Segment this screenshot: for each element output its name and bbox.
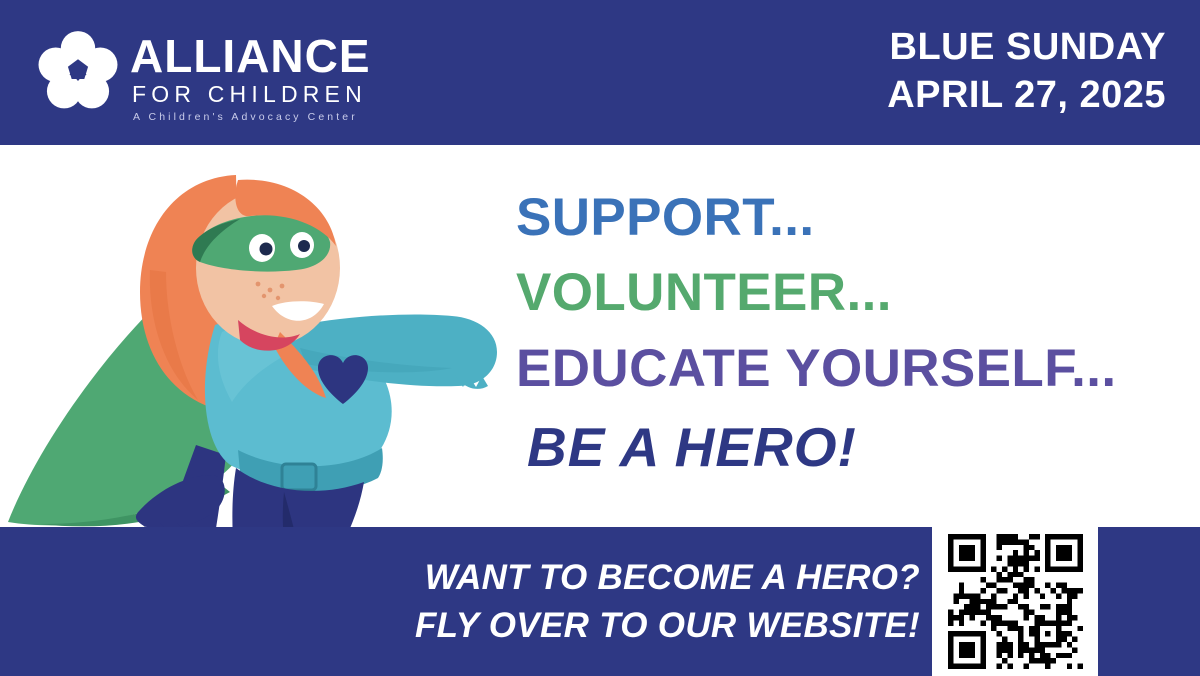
alliance-for-children-logo: ALLIANCE FOR CHILDREN A Children's Advoc… [36, 28, 371, 124]
cta-line-2: FLY OVER TO OUR WEBSITE! [415, 602, 920, 650]
cta-line-1: WANT TO BECOME A HERO? [415, 554, 920, 602]
headline-stack: SUPPORT... VOLUNTEER... EDUCATE YOURSELF… [516, 180, 1176, 483]
headline-support: SUPPORT... [516, 180, 1176, 255]
qr-code-icon[interactable] [948, 534, 1083, 669]
flower-petal-logo-icon [36, 28, 120, 114]
blue-sunday-poster: ALLIANCE FOR CHILDREN A Children's Advoc… [0, 0, 1200, 676]
headline-volunteer: VOLUNTEER... [516, 255, 1176, 330]
headline-be-a-hero: BE A HERO! [527, 412, 1176, 484]
poster-header: ALLIANCE FOR CHILDREN A Children's Advoc… [0, 0, 1200, 145]
banner-right-block [1098, 527, 1200, 676]
logo-name: ALLIANCE [130, 34, 371, 79]
website-cta-banner: WANT TO BECOME A HERO? FLY OVER TO OUR W… [0, 527, 932, 676]
logo-tagline: A Children's Advocacy Center [130, 111, 371, 125]
event-date: APRIL 27, 2025 [887, 72, 1166, 120]
cta-text: WANT TO BECOME A HERO? FLY OVER TO OUR W… [415, 554, 920, 649]
logo-subname: FOR CHILDREN [130, 80, 371, 109]
event-name: BLUE SUNDAY [887, 24, 1166, 72]
qr-panel [932, 527, 1098, 676]
event-date-block: BLUE SUNDAY APRIL 27, 2025 [887, 24, 1166, 120]
headline-educate: EDUCATE YOURSELF... [516, 331, 1176, 406]
